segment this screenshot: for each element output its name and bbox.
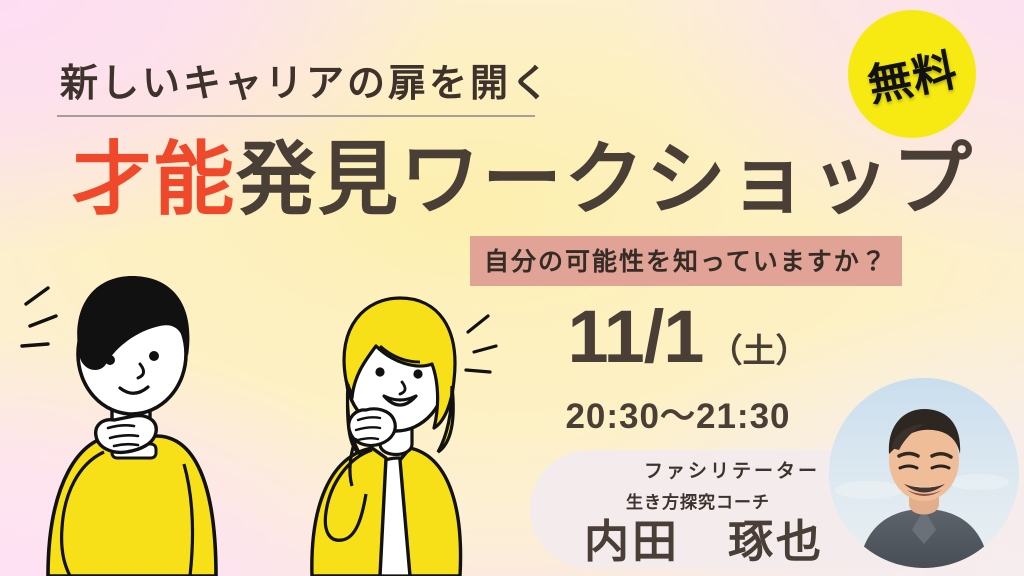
event-time: 20:30〜21:30	[508, 388, 848, 439]
page-title: 才能発見ワークショップ	[72, 137, 962, 223]
title-accent-text: 才能	[72, 135, 236, 224]
title-rest-text: 発見ワークショップ	[236, 135, 974, 224]
facilitator-name: 内田 琢也	[570, 505, 838, 570]
free-badge-label: 無料	[862, 34, 963, 114]
facilitator-portrait-photo	[829, 378, 1019, 568]
poster-canvas: 新しいキャリアの扉を開く 才能発見ワークショップ 自分の可能性を知っていますか？…	[0, 0, 1024, 576]
free-badge-circle: 無料	[848, 10, 976, 138]
event-date-dayofweek: （土）	[709, 332, 808, 369]
thinking-man-illustration	[8, 268, 248, 576]
thinking-woman-illustration	[288, 288, 508, 576]
event-date: 11/1（土）	[508, 300, 868, 374]
headline-underline	[57, 115, 535, 117]
headline-text: 新しいキャリアの扉を開く	[60, 52, 660, 107]
event-date-number: 11/1	[568, 295, 704, 378]
subtitle-text: 自分の可能性を知っていますか？	[484, 248, 888, 276]
subtitle-band: 自分の可能性を知っていますか？	[470, 236, 902, 286]
